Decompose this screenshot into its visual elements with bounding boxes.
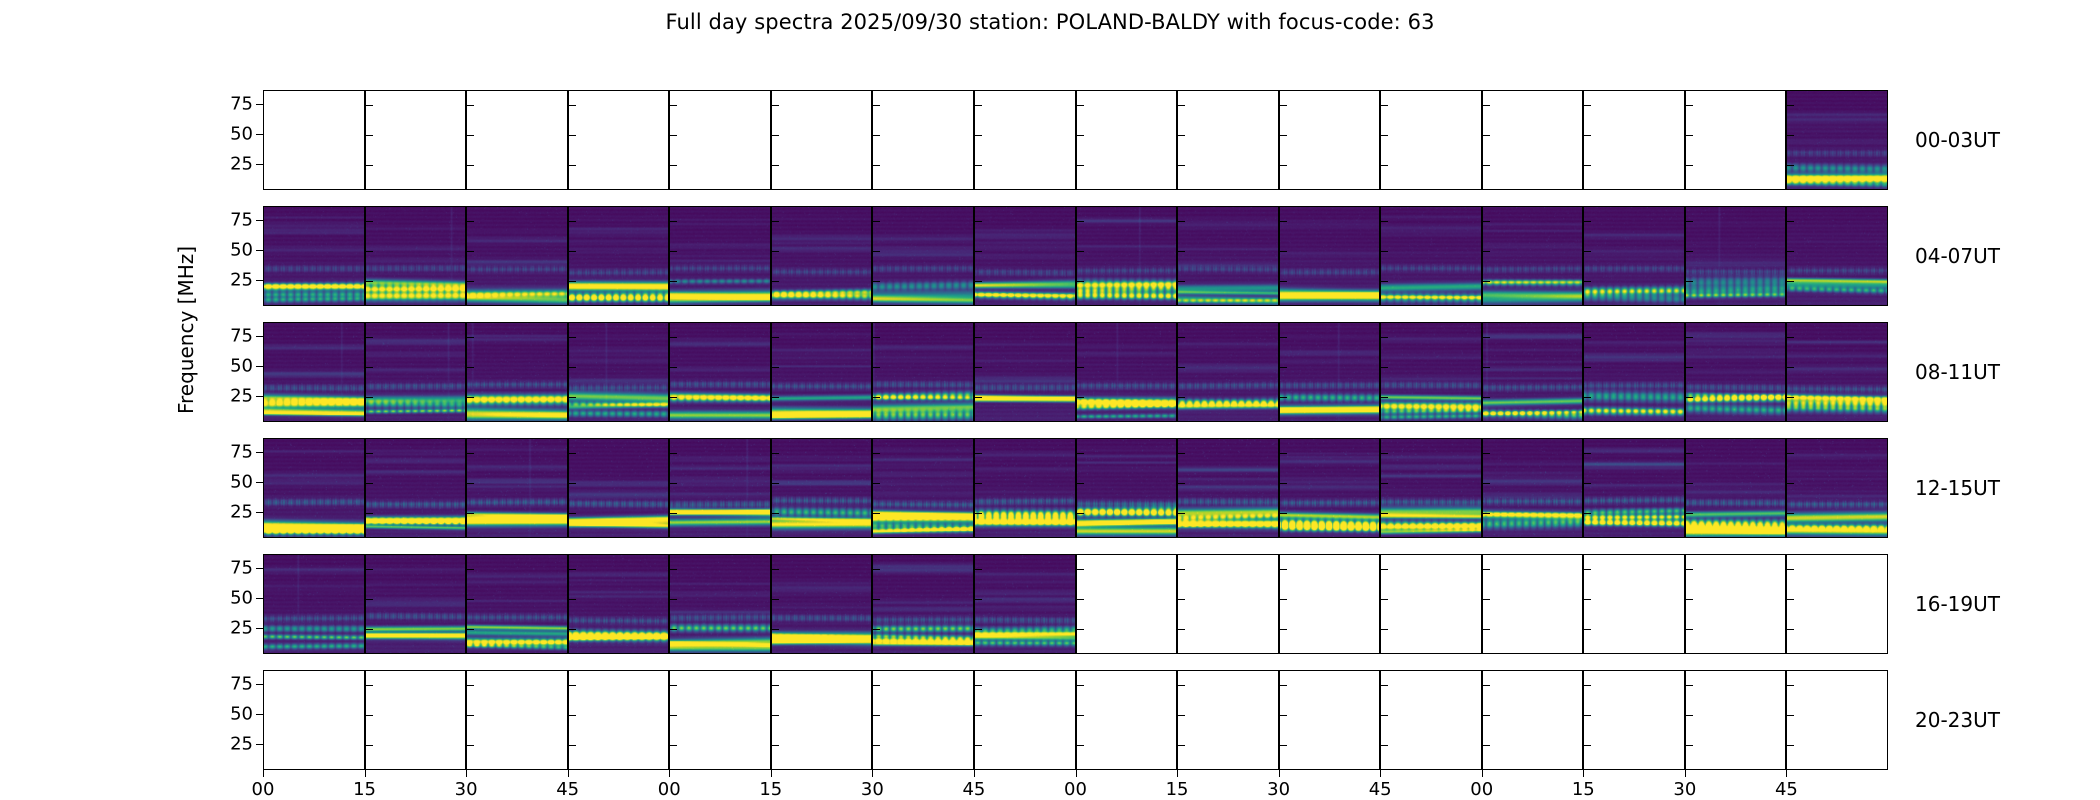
y-tick-mark — [1280, 281, 1287, 282]
y-tick-mark — [1077, 629, 1084, 630]
y-tick-mark — [366, 629, 373, 630]
y-tick-mark — [1584, 685, 1591, 686]
y-tick-mark — [569, 281, 576, 282]
y-tick-mark — [873, 337, 880, 338]
spectrogram-image — [366, 555, 466, 653]
y-tick-mark — [1280, 629, 1287, 630]
y-tick-mark — [975, 135, 982, 136]
y-tick-mark — [1584, 629, 1591, 630]
spectrogram-cell — [1583, 90, 1685, 190]
y-tick-mark — [1787, 715, 1794, 716]
y-tick-mark — [1584, 367, 1591, 368]
spectrogram-image — [1178, 439, 1278, 537]
y-tick-label: 25 — [230, 270, 253, 291]
y-tick-mark — [975, 629, 982, 630]
y-tick-label: 25 — [230, 618, 253, 639]
y-tick-mark — [366, 685, 373, 686]
y-tick-mark — [1686, 685, 1693, 686]
y-tick-mark — [975, 483, 982, 484]
y-tick-mark — [1584, 745, 1591, 746]
y-tick-mark — [569, 165, 576, 166]
y-tick-mark — [1381, 569, 1388, 570]
y-tick-mark — [670, 337, 677, 338]
x-tick-mark — [1279, 770, 1280, 777]
y-tick-mark — [1483, 105, 1490, 106]
spectrogram-cell — [263, 90, 365, 190]
y-tick-mark — [873, 685, 880, 686]
y-tick-mark — [772, 251, 779, 252]
y-tick-mark — [366, 513, 373, 514]
spectrogram-cell — [974, 206, 1076, 306]
spectrogram-image — [1787, 207, 1887, 305]
y-tick-mark — [772, 281, 779, 282]
y-tick-mark — [873, 599, 880, 600]
y-tick-mark — [772, 599, 779, 600]
y-tick-mark — [1483, 685, 1490, 686]
y-tick-mark — [1077, 715, 1084, 716]
spectrogram-image — [1178, 207, 1278, 305]
y-tick-mark — [873, 745, 880, 746]
spectrogram-cell — [365, 554, 467, 654]
y-tick-mark — [1483, 483, 1490, 484]
y-tick-mark — [467, 483, 474, 484]
spectrogram-image — [1381, 439, 1481, 537]
y-tick-mark — [366, 251, 373, 252]
spectrogram-image — [975, 439, 1075, 537]
x-tick-label: 45 — [1369, 779, 1392, 800]
spectrogram-cell — [1583, 206, 1685, 306]
spectrogram-cell — [1177, 670, 1279, 770]
y-tick-mark — [467, 281, 474, 282]
spectrogram-cell — [1177, 90, 1279, 190]
y-tick-mark — [975, 453, 982, 454]
y-tick-mark — [366, 483, 373, 484]
y-tick-mark — [366, 397, 373, 398]
y-tick-mark — [256, 744, 263, 745]
y-tick-label: 75 — [230, 210, 253, 231]
spectrogram-image — [1077, 207, 1177, 305]
y-tick-mark — [1381, 685, 1388, 686]
spectrogram-row: 755025 — [263, 206, 1888, 306]
y-tick-mark — [1381, 337, 1388, 338]
spectrogram-cell — [1685, 670, 1787, 770]
y-tick-mark — [1483, 513, 1490, 514]
y-tick-mark — [569, 513, 576, 514]
y-tick-mark — [670, 397, 677, 398]
spectrogram-row: 755025 — [263, 322, 1888, 422]
x-tick-mark — [365, 770, 366, 777]
y-tick-mark — [975, 337, 982, 338]
x-tick-label: 30 — [861, 779, 884, 800]
y-tick-mark — [670, 251, 677, 252]
row-time-label: 00-03UT — [1915, 128, 2000, 152]
spectrogram-image — [569, 323, 669, 421]
y-tick-mark — [1584, 483, 1591, 484]
spectrogram-image — [264, 439, 364, 537]
spectrogram-cell — [365, 90, 467, 190]
y-tick-label: 75 — [230, 94, 253, 115]
y-tick-mark — [1077, 513, 1084, 514]
y-tick-mark — [1584, 165, 1591, 166]
spectrogram-image — [975, 555, 1075, 653]
spectrogram-cell — [1279, 670, 1381, 770]
y-tick-mark — [1483, 629, 1490, 630]
y-tick-mark — [1280, 135, 1287, 136]
y-tick-mark — [1280, 745, 1287, 746]
spectrogram-cell — [466, 322, 568, 422]
spectrogram-image — [1280, 439, 1380, 537]
spectrogram-cell — [1786, 438, 1888, 538]
y-tick-mark — [1077, 453, 1084, 454]
y-tick-mark — [670, 453, 677, 454]
y-tick-mark — [1381, 745, 1388, 746]
y-tick-mark — [670, 629, 677, 630]
y-tick-mark — [1178, 715, 1185, 716]
y-tick-mark — [256, 568, 263, 569]
spectrogram-cell — [1076, 670, 1178, 770]
y-axis-label-text: Frequency [MHz] — [174, 246, 198, 414]
spectrogram-image — [366, 323, 466, 421]
y-tick-mark — [1686, 569, 1693, 570]
x-tick-label: 30 — [455, 779, 478, 800]
y-tick-mark — [1787, 337, 1794, 338]
y-tick-mark — [772, 745, 779, 746]
spectrogram-cell — [974, 90, 1076, 190]
y-tick-mark — [1686, 165, 1693, 166]
y-tick-mark — [1483, 453, 1490, 454]
spectrogram-cell — [466, 438, 568, 538]
spectrogram-cell — [365, 670, 467, 770]
y-tick-mark — [1381, 251, 1388, 252]
row-time-label: 16-19UT — [1915, 592, 2000, 616]
x-tick-label: 00 — [1470, 779, 1493, 800]
y-tick-mark — [1178, 135, 1185, 136]
y-tick-mark — [1483, 599, 1490, 600]
x-tick-label: 00 — [252, 779, 275, 800]
y-tick-mark — [1381, 105, 1388, 106]
y-tick-mark — [366, 367, 373, 368]
y-tick-mark — [772, 685, 779, 686]
y-tick-mark — [467, 685, 474, 686]
y-tick-mark — [772, 483, 779, 484]
y-tick-mark — [467, 135, 474, 136]
spectrogram-image — [1584, 439, 1684, 537]
y-tick-mark — [1280, 483, 1287, 484]
y-tick-mark — [1787, 105, 1794, 106]
spectrogram-image — [1584, 207, 1684, 305]
y-tick-mark — [1584, 513, 1591, 514]
y-tick-mark — [1178, 685, 1185, 686]
spectrogram-cell — [1177, 554, 1279, 654]
y-tick-mark — [975, 599, 982, 600]
y-tick-mark — [1686, 337, 1693, 338]
y-tick-mark — [569, 221, 576, 222]
spectrogram-image — [366, 207, 466, 305]
y-tick-mark — [1787, 513, 1794, 514]
spectrogram-cell — [1380, 206, 1482, 306]
y-tick-mark — [1077, 135, 1084, 136]
y-tick-mark — [366, 599, 373, 600]
y-tick-mark — [1280, 569, 1287, 570]
spectrogram-cell — [1279, 554, 1381, 654]
y-tick-mark — [366, 135, 373, 136]
y-tick-mark — [1077, 221, 1084, 222]
y-tick-mark — [975, 251, 982, 252]
x-tick-label: 00 — [1064, 779, 1087, 800]
y-tick-mark — [256, 134, 263, 135]
y-tick-mark — [975, 367, 982, 368]
spectrogram-cell — [771, 322, 873, 422]
y-tick-mark — [1381, 135, 1388, 136]
y-tick-mark — [1280, 453, 1287, 454]
spectrogram-image — [1381, 207, 1481, 305]
y-tick-mark — [772, 513, 779, 514]
x-tick-mark — [1583, 770, 1584, 777]
spectrogram-cell — [1482, 206, 1584, 306]
y-tick-mark — [873, 629, 880, 630]
spectrogram-cell — [974, 322, 1076, 422]
y-tick-mark — [975, 105, 982, 106]
y-tick-mark — [1686, 281, 1693, 282]
x-tick-mark — [263, 770, 264, 777]
y-tick-mark — [772, 569, 779, 570]
y-tick-mark — [1280, 513, 1287, 514]
y-tick-label: 75 — [230, 442, 253, 463]
x-tick-mark — [568, 770, 569, 777]
y-tick-mark — [1178, 629, 1185, 630]
spectrogram-cell — [263, 670, 365, 770]
y-tick-mark — [772, 629, 779, 630]
y-tick-mark — [569, 105, 576, 106]
x-tick-mark — [669, 770, 670, 777]
spectrogram-figure: Full day spectra 2025/09/30 station: POL… — [0, 0, 2100, 800]
y-tick-mark — [569, 367, 576, 368]
y-tick-mark — [975, 715, 982, 716]
x-tick-mark — [1786, 770, 1787, 777]
y-tick-mark — [1686, 513, 1693, 514]
y-tick-label: 50 — [230, 472, 253, 493]
spectrogram-image — [772, 555, 872, 653]
x-tick-label: 30 — [1673, 779, 1696, 800]
y-tick-mark — [1787, 629, 1794, 630]
spectrogram-image — [873, 439, 973, 537]
spectrogram-cell — [1685, 206, 1787, 306]
y-tick-mark — [256, 684, 263, 685]
spectrogram-image — [1280, 323, 1380, 421]
y-tick-mark — [569, 397, 576, 398]
y-tick-mark — [1077, 281, 1084, 282]
y-tick-mark — [1483, 135, 1490, 136]
y-tick-mark — [1483, 569, 1490, 570]
spectrogram-cell — [1279, 206, 1381, 306]
y-tick-mark — [1178, 745, 1185, 746]
y-tick-mark — [1381, 367, 1388, 368]
y-tick-mark — [1381, 281, 1388, 282]
spectrogram-cell — [1076, 322, 1178, 422]
spectrogram-cell — [568, 438, 670, 538]
spectrogram-cell — [1177, 438, 1279, 538]
y-tick-mark — [975, 569, 982, 570]
y-tick-mark — [772, 135, 779, 136]
y-tick-mark — [1178, 483, 1185, 484]
y-tick-mark — [366, 337, 373, 338]
y-tick-mark — [975, 745, 982, 746]
y-tick-mark — [569, 745, 576, 746]
spectrogram-cell — [568, 322, 670, 422]
spectrogram-cell — [263, 206, 365, 306]
y-tick-mark — [1787, 569, 1794, 570]
y-tick-label: 50 — [230, 356, 253, 377]
y-tick-mark — [1787, 745, 1794, 746]
y-tick-mark — [467, 397, 474, 398]
spectrogram-cell — [365, 206, 467, 306]
y-tick-mark — [1077, 165, 1084, 166]
y-tick-mark — [1178, 221, 1185, 222]
spectrogram-cell — [263, 554, 365, 654]
row-time-label: 20-23UT — [1915, 708, 2000, 732]
spectrogram-image — [467, 207, 567, 305]
spectrogram-cell — [1786, 206, 1888, 306]
y-tick-mark — [873, 453, 880, 454]
spectrogram-cell — [1482, 670, 1584, 770]
spectrogram-cell — [669, 90, 771, 190]
spectrogram-image — [1686, 323, 1786, 421]
y-tick-mark — [569, 483, 576, 484]
y-tick-mark — [772, 165, 779, 166]
y-tick-mark — [1686, 135, 1693, 136]
page-title: Full day spectra 2025/09/30 station: POL… — [0, 10, 2100, 34]
y-tick-mark — [1280, 337, 1287, 338]
y-tick-mark — [1077, 483, 1084, 484]
y-tick-mark — [1483, 221, 1490, 222]
y-tick-mark — [1584, 281, 1591, 282]
y-tick-mark — [256, 164, 263, 165]
spectrogram-cell — [365, 438, 467, 538]
x-tick-label: 00 — [658, 779, 681, 800]
y-tick-mark — [1686, 367, 1693, 368]
y-tick-mark — [670, 221, 677, 222]
y-tick-mark — [569, 629, 576, 630]
y-tick-mark — [1178, 453, 1185, 454]
spectrogram-image — [1584, 323, 1684, 421]
y-tick-mark — [467, 599, 474, 600]
y-tick-mark — [1787, 483, 1794, 484]
y-tick-mark — [975, 397, 982, 398]
spectrogram-row: 755025 — [263, 438, 1888, 538]
spectrogram-cell — [1583, 554, 1685, 654]
y-tick-mark — [569, 569, 576, 570]
y-tick-mark — [873, 513, 880, 514]
y-tick-mark — [1381, 165, 1388, 166]
y-tick-mark — [569, 251, 576, 252]
x-tick-mark — [1177, 770, 1178, 777]
y-tick-label: 75 — [230, 326, 253, 347]
y-tick-mark — [366, 165, 373, 166]
y-tick-mark — [1381, 513, 1388, 514]
spectrogram-cell — [1380, 90, 1482, 190]
y-tick-mark — [975, 221, 982, 222]
y-tick-mark — [975, 281, 982, 282]
spectrogram-cell — [1482, 322, 1584, 422]
y-tick-mark — [1686, 599, 1693, 600]
spectrogram-image — [1483, 323, 1583, 421]
spectrogram-image — [873, 207, 973, 305]
y-tick-mark — [873, 715, 880, 716]
y-tick-mark — [1787, 221, 1794, 222]
y-tick-mark — [1483, 251, 1490, 252]
x-tick-label: 45 — [962, 779, 985, 800]
y-tick-mark — [1584, 453, 1591, 454]
row-time-label: 04-07UT — [1915, 244, 2000, 268]
spectrogram-row: 755025 — [263, 90, 1888, 190]
y-tick-mark — [1178, 513, 1185, 514]
spectrogram-cell — [872, 206, 974, 306]
y-tick-mark — [1280, 397, 1287, 398]
y-tick-label: 25 — [230, 734, 253, 755]
spectrogram-cell — [466, 554, 568, 654]
spectrogram-cell — [1583, 322, 1685, 422]
spectrogram-cell — [771, 206, 873, 306]
spectrogram-cell — [1482, 438, 1584, 538]
spectrogram-image — [1787, 439, 1887, 537]
y-tick-mark — [1584, 397, 1591, 398]
y-tick-mark — [1686, 251, 1693, 252]
x-tick-label: 15 — [1572, 779, 1595, 800]
spectrogram-cell — [1482, 90, 1584, 190]
y-tick-mark — [467, 629, 474, 630]
y-tick-mark — [1584, 135, 1591, 136]
x-tick-mark — [466, 770, 467, 777]
spectrogram-cell — [466, 670, 568, 770]
y-tick-mark — [772, 397, 779, 398]
y-tick-mark — [1483, 745, 1490, 746]
spectrogram-cell — [1177, 206, 1279, 306]
y-tick-mark — [1381, 629, 1388, 630]
spectrogram-cell — [1786, 322, 1888, 422]
y-tick-mark — [873, 397, 880, 398]
y-tick-mark — [467, 337, 474, 338]
y-tick-mark — [366, 105, 373, 106]
spectrogram-image — [975, 323, 1075, 421]
y-tick-mark — [1178, 367, 1185, 368]
y-tick-mark — [670, 715, 677, 716]
y-tick-mark — [1584, 105, 1591, 106]
y-tick-mark — [1787, 599, 1794, 600]
y-tick-label: 25 — [230, 502, 253, 523]
y-tick-mark — [1077, 569, 1084, 570]
y-tick-mark — [670, 513, 677, 514]
spectrogram-image — [569, 207, 669, 305]
y-tick-mark — [256, 336, 263, 337]
spectrogram-image — [366, 439, 466, 537]
y-tick-mark — [670, 745, 677, 746]
y-tick-mark — [1381, 221, 1388, 222]
y-tick-mark — [256, 512, 263, 513]
spectrogram-cell — [1786, 554, 1888, 654]
y-tick-mark — [1584, 251, 1591, 252]
y-tick-mark — [569, 715, 576, 716]
row-time-label: 08-11UT — [1915, 360, 2000, 384]
y-tick-mark — [467, 165, 474, 166]
y-tick-mark — [366, 453, 373, 454]
y-tick-mark — [1787, 397, 1794, 398]
spectrogram-cell — [1583, 670, 1685, 770]
y-tick-mark — [1787, 685, 1794, 686]
y-tick-mark — [772, 453, 779, 454]
spectrogram-image — [1483, 207, 1583, 305]
spectrogram-cell — [1482, 554, 1584, 654]
y-tick-mark — [256, 628, 263, 629]
